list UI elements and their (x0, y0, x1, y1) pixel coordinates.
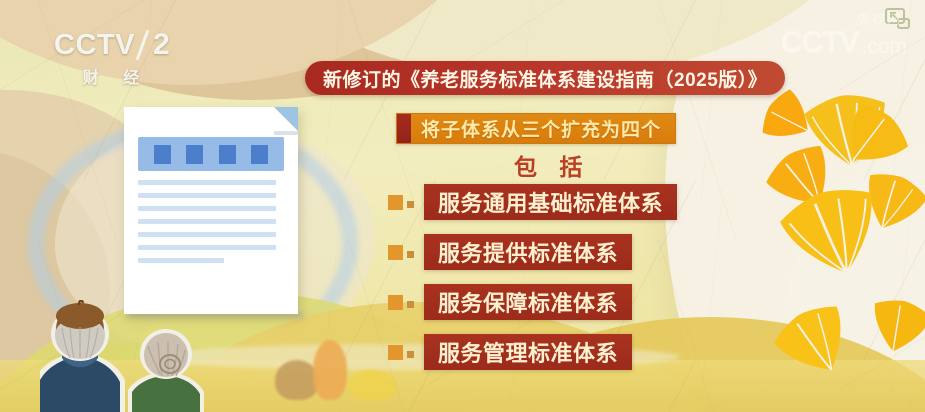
document-corner-fold-icon (274, 107, 298, 131)
channel-name: 财 经 (54, 64, 170, 88)
bullet-square-small (407, 251, 414, 258)
watermark-brand: CCTV (781, 28, 859, 58)
bush-orange (313, 340, 347, 400)
document-text-line (138, 206, 276, 211)
document-text-line (138, 258, 224, 263)
subtitle-text: 将子体系从三个扩充为四个 (411, 115, 675, 142)
channel-number: 2 (153, 30, 170, 60)
watermark-cn-label: 央视网 (857, 9, 902, 28)
bullet-square-icon (388, 245, 414, 260)
document-page-icon (124, 107, 298, 314)
subtitle-band-cap (397, 114, 411, 143)
document-text-line (138, 245, 276, 250)
channel-logo-slash-icon (135, 30, 151, 60)
bullet-square-icon (388, 345, 414, 360)
elderly-couple-icon (40, 300, 225, 412)
list-item: 服务管理标准体系 (388, 334, 677, 370)
document-header-block (154, 145, 171, 164)
standard-system-list: 服务通用基础标准体系 服务提供标准体系 服务保障标准体系 服务管理标准体系 (388, 184, 677, 370)
bullet-square-large (388, 295, 403, 310)
channel-logo-text: CCTV (54, 31, 135, 60)
list-item-label: 服务通用基础标准体系 (424, 184, 677, 220)
bush-yellow (348, 370, 396, 400)
list-item-label: 服务保障标准体系 (424, 284, 632, 320)
headline-banner: 新修订的《养老服务标准体系建设指南（2025版）》 (305, 61, 785, 95)
bullet-square-small (407, 201, 414, 208)
list-item: 服务保障标准体系 (388, 284, 677, 320)
subtitle-band: 将子体系从三个扩充为四个 (396, 113, 676, 144)
watermark-tld: .com (861, 36, 907, 57)
bullet-square-small (407, 351, 414, 358)
bullet-square-large (388, 195, 403, 210)
list-item: 服务提供标准体系 (388, 234, 677, 270)
broadcast-frame: CCTV 2 财 经 央视网 CCTV .com 新修订的《养老服务标准体系建设… (0, 0, 925, 412)
document-corner-fold-shadow (274, 131, 298, 135)
bullet-square-large (388, 245, 403, 260)
document-header-block (251, 145, 268, 164)
document-header-block (186, 145, 203, 164)
document-text-line (138, 232, 276, 237)
list-item-label: 服务管理标准体系 (424, 334, 632, 370)
cctv-watermark: 央视网 CCTV .com (781, 28, 907, 58)
document-text-line (138, 180, 276, 185)
bullet-square-icon (388, 295, 414, 310)
document-header-bar (138, 137, 284, 171)
document-text-line (138, 219, 276, 224)
bullet-square-small (407, 301, 414, 308)
document-header-block (219, 145, 236, 164)
document-text-line (138, 193, 276, 198)
channel-logo: CCTV 2 财 经 (54, 30, 170, 88)
list-item: 服务通用基础标准体系 (388, 184, 677, 220)
bullet-square-icon (388, 195, 414, 210)
list-item-label: 服务提供标准体系 (424, 234, 632, 270)
include-label: 包 括 (514, 148, 590, 182)
channel-logo-main: CCTV 2 (54, 30, 170, 60)
document-text-lines (138, 180, 276, 263)
bullet-square-large (388, 345, 403, 360)
